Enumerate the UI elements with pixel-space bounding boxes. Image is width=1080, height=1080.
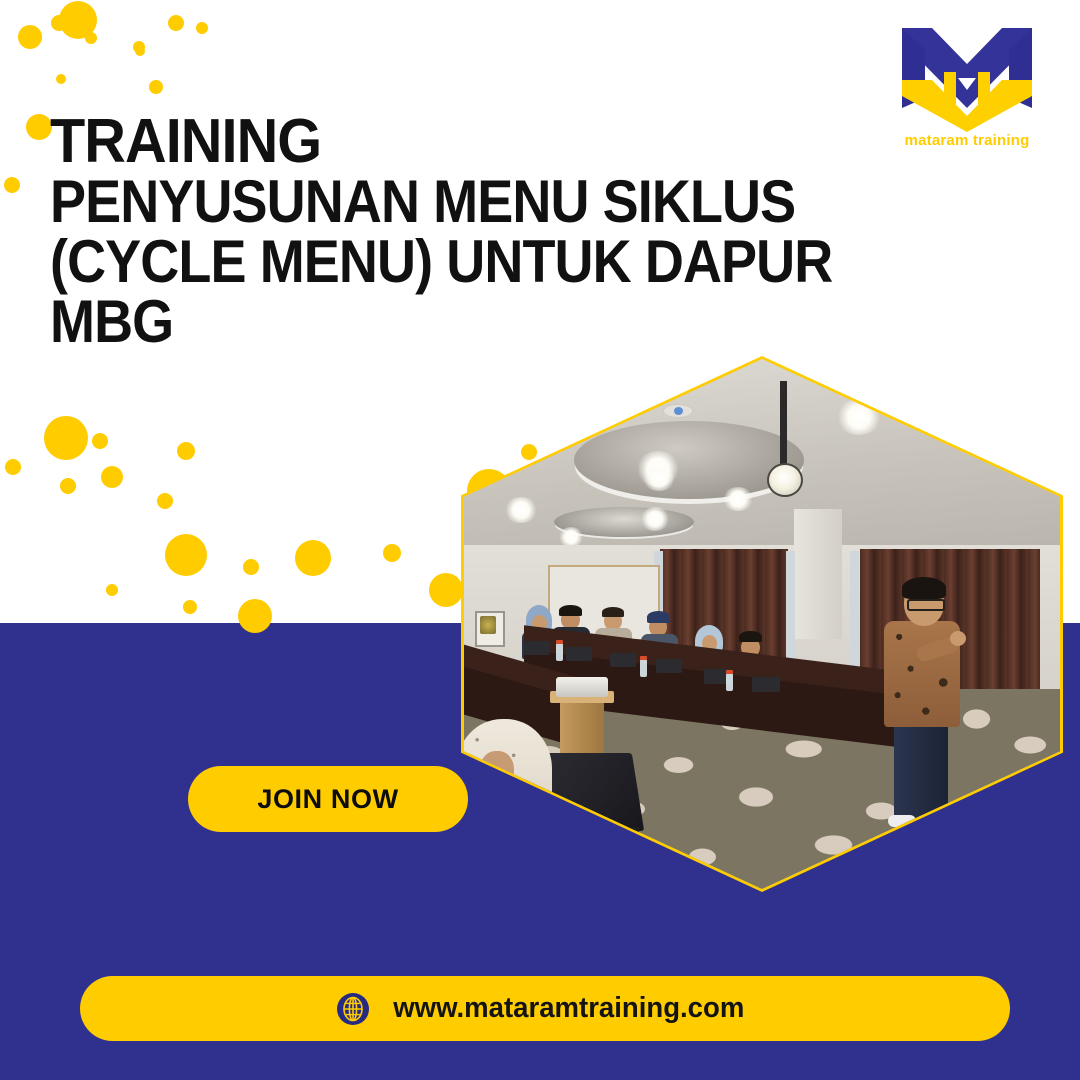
photo-light-rod — [780, 381, 787, 469]
decor-dot — [92, 433, 108, 449]
decor-dot — [383, 544, 401, 562]
join-now-label: JOIN NOW — [257, 784, 398, 815]
title-line-3: (CYCLE MENU) UNTUK DAPUR — [50, 232, 914, 292]
decor-dot — [60, 478, 76, 494]
photo-water-bottle — [726, 673, 733, 691]
photo-water-bottle — [640, 659, 647, 677]
decor-dot — [51, 15, 67, 31]
decor-dot — [165, 534, 207, 576]
decor-dot — [429, 573, 463, 607]
photo-projector — [556, 677, 608, 697]
title-line-2: PENYUSUNAN MENU SIKLUS — [50, 172, 914, 232]
decor-dot — [5, 459, 21, 475]
globe-icon — [336, 992, 370, 1026]
decor-dot — [18, 25, 42, 49]
photo-spotlight — [558, 527, 584, 547]
photo-bottle-cap — [726, 670, 733, 674]
photo-spotlight — [836, 399, 882, 435]
decor-dot — [106, 584, 118, 596]
decor-dot — [168, 15, 184, 31]
decor-dot — [196, 22, 208, 34]
photo-spotlight — [722, 487, 754, 511]
website-url: www.mataramtraining.com — [393, 992, 744, 1025]
photo-spotlight — [642, 465, 676, 491]
photo-laptop — [566, 647, 592, 661]
photo-laptop — [610, 653, 636, 667]
photo-pendant-bulb — [767, 463, 803, 497]
decor-dot — [56, 74, 66, 84]
photo-certificate-seal — [480, 616, 496, 634]
photo-spotlight — [640, 507, 670, 531]
decor-dot — [44, 416, 88, 460]
poster-canvas: mataram training TRAINING PENYUSUNAN MEN… — [0, 0, 1080, 1080]
photo-pillar — [794, 509, 842, 639]
photo-presenter-hand — [950, 631, 966, 646]
decor-dot — [4, 177, 20, 193]
title-line-4: MBG — [50, 292, 914, 352]
poster-title: TRAINING PENYUSUNAN MENU SIKLUS (CYCLE M… — [50, 112, 1010, 352]
photo-laptop — [656, 659, 682, 673]
decor-dot — [101, 466, 123, 488]
decor-dot — [135, 46, 145, 56]
photo-laptop — [524, 641, 550, 655]
decor-dot — [85, 32, 97, 44]
title-line-1: TRAINING — [50, 112, 943, 172]
decor-dot — [149, 80, 163, 94]
photo-bottle-cap — [640, 656, 647, 660]
decor-dot — [521, 444, 537, 460]
decor-dot — [133, 41, 145, 53]
photo-sensor-led — [674, 407, 683, 415]
photo-presenter-glasses — [907, 599, 945, 611]
photo-laptop — [752, 677, 780, 692]
photo-spotlight — [504, 497, 538, 523]
decor-dot — [26, 114, 52, 140]
photo-presenter-hair — [902, 577, 946, 599]
decor-dot — [157, 493, 173, 509]
decor-dot — [183, 600, 197, 614]
decor-dot — [243, 559, 259, 575]
decor-dot — [295, 540, 331, 576]
decor-dot — [59, 1, 97, 39]
photo-presenter-legs — [894, 715, 948, 823]
photo-bottle-cap — [556, 640, 563, 644]
decor-dot — [177, 442, 195, 460]
join-now-button[interactable]: JOIN NOW — [188, 766, 468, 832]
photo-water-bottle — [556, 643, 563, 661]
website-bar[interactable]: www.mataramtraining.com — [80, 976, 1010, 1041]
